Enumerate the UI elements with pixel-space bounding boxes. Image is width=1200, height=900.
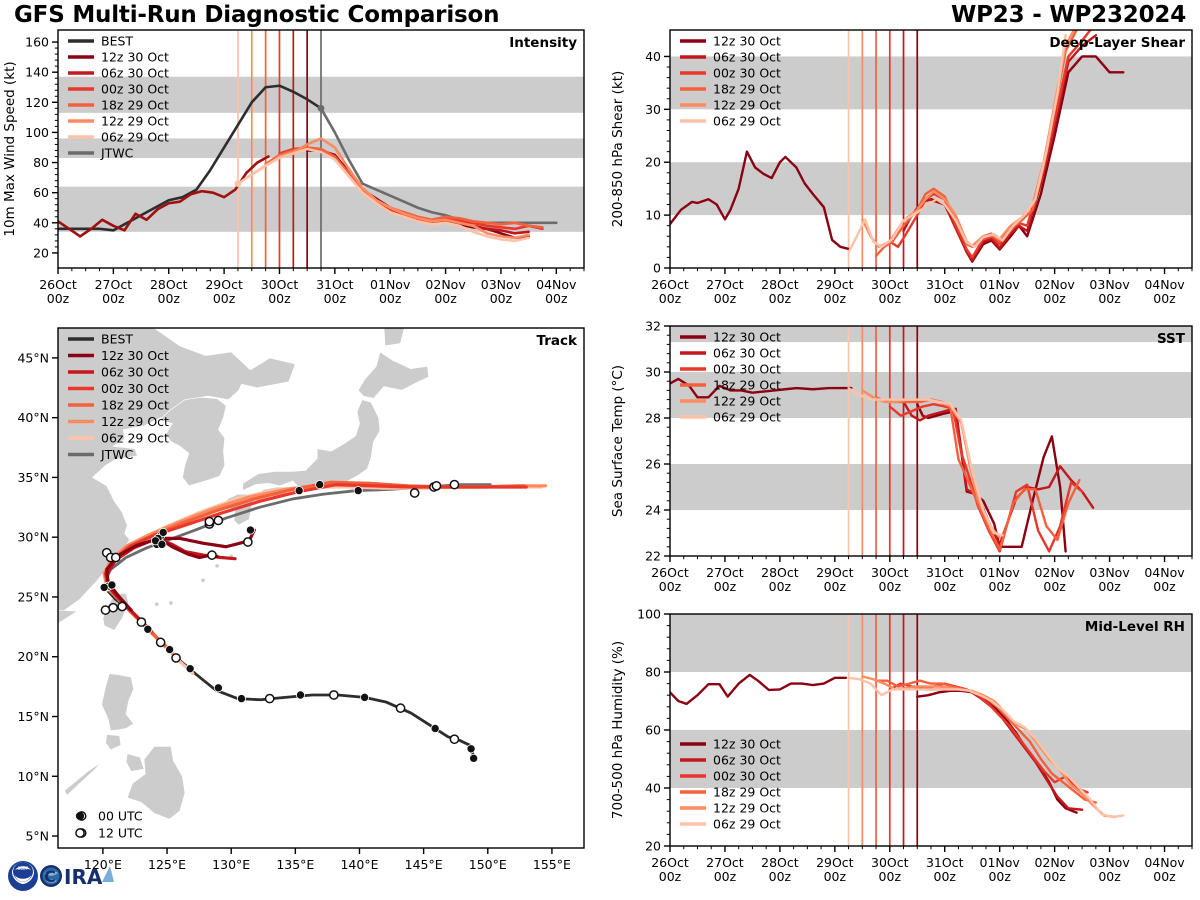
marker-12utc <box>330 691 338 699</box>
x-tick-sublabel: 00z <box>769 579 792 594</box>
panel-sst: 22242628303226Oct00z27Oct00z28Oct00z29Oc… <box>600 320 1200 608</box>
marker-00utc <box>354 486 362 494</box>
legend-label: 12z 29 Oct <box>101 414 169 429</box>
x-tick-label: 30Oct <box>871 855 909 870</box>
y-axis: 010203040 <box>645 49 670 276</box>
run-start-marker <box>235 180 242 187</box>
marker-00utc <box>76 812 84 820</box>
svg-text:140: 140 <box>25 65 49 80</box>
svg-text:1807: 1807 <box>18 866 29 871</box>
x-tick-sublabel: 00z <box>824 579 847 594</box>
x-tick-label: 28Oct <box>761 277 799 292</box>
marker-00utc <box>246 526 254 534</box>
x-tick-label: 30Oct <box>871 565 909 580</box>
svg-text:60: 60 <box>33 185 49 200</box>
x-tick-sublabel: 00z <box>379 291 402 306</box>
legend-label: 12z 29 Oct <box>713 394 781 409</box>
x-tick-sublabel: 00z <box>714 869 737 884</box>
x-tick-sublabel: 00z <box>988 291 1011 306</box>
x-tick-sublabel: 00z <box>213 291 236 306</box>
legend-label: 18z 29 Oct <box>713 785 781 800</box>
x-tick-sublabel: 00z <box>659 869 682 884</box>
marker-00utc <box>467 745 475 753</box>
x-tick-label: 29Oct <box>816 855 854 870</box>
legend-label: 06z 30 Oct <box>713 346 781 361</box>
x-tick-sublabel: 00z <box>934 291 957 306</box>
svg-text:20: 20 <box>645 155 661 170</box>
x-axis: 26Oct00z27Oct00z28Oct00z29Oct00z30Oct00z… <box>39 268 584 306</box>
panel-track: 120°E125°E130°E135°E140°E145°E150°E155°E… <box>0 324 592 884</box>
marker-12utc <box>137 618 145 626</box>
svg-text:30: 30 <box>645 365 661 380</box>
legend-label: 18z 29 Oct <box>713 82 781 97</box>
x-tick-label: 26Oct <box>651 565 689 580</box>
legend-label: 06z 29 Oct <box>101 431 169 446</box>
marker-00utc <box>470 754 478 762</box>
marker-00utc <box>214 684 222 692</box>
svg-text:80: 80 <box>645 665 661 680</box>
x-tick-sublabel: 00z <box>1098 869 1121 884</box>
island <box>201 578 205 582</box>
noaa-cira-logo: 1807 C IRA <box>6 856 136 898</box>
marker-00utc <box>166 645 174 653</box>
y-tick-label: 15°N <box>17 709 49 724</box>
x-tick-label: 31Oct <box>316 277 354 292</box>
x-tick-label: 30Oct <box>261 277 299 292</box>
legend-label: 00z 30 Oct <box>101 381 169 396</box>
jtwc-start-marker <box>318 105 325 112</box>
x-tick-label: 150°E <box>469 857 507 872</box>
svg-text:24: 24 <box>645 503 661 518</box>
x-axis: 26Oct00z27Oct00z28Oct00z29Oct00z30Oct00z… <box>651 268 1192 306</box>
x-tick-sublabel: 00z <box>1098 579 1121 594</box>
x-tick-label: 04Nov <box>536 277 577 292</box>
x-tick-sublabel: 00z <box>879 579 902 594</box>
svg-text:60: 60 <box>645 723 661 738</box>
legend-label: 12z 30 Oct <box>101 348 169 363</box>
x-axis: 120°E125°E130°E135°E140°E145°E150°E155°E <box>84 848 571 872</box>
x-tick-label: 27Oct <box>706 855 744 870</box>
noaa-seal-icon: 1807 <box>8 861 38 891</box>
svg-text:IRA: IRA <box>64 865 103 889</box>
marker-12utc <box>432 482 440 490</box>
y-tick-label: 10°N <box>17 769 49 784</box>
x-tick-label: 04Nov <box>1144 565 1185 580</box>
marker-00utc <box>295 486 303 494</box>
svg-text:80: 80 <box>33 155 49 170</box>
x-tick-label: 27Oct <box>95 277 133 292</box>
marker-12utc <box>109 604 117 612</box>
marker-00utc <box>237 694 245 702</box>
x-tick-label: 31Oct <box>926 855 964 870</box>
legend-label: JTWC <box>100 146 134 161</box>
legend-label: 12z 29 Oct <box>713 98 781 113</box>
x-tick-label: 28Oct <box>761 855 799 870</box>
x-tick-label: 26Oct <box>651 277 689 292</box>
legend-label: 06z 30 Oct <box>101 365 169 380</box>
x-tick-sublabel: 00z <box>879 291 902 306</box>
x-tick-label: 01Nov <box>370 277 411 292</box>
x-tick-sublabel: 00z <box>47 291 70 306</box>
panel-title: Intensity <box>509 35 577 51</box>
marker-00utc <box>144 625 152 633</box>
marker-12utc <box>214 516 222 524</box>
legend-label: BEST <box>101 332 133 347</box>
y-tick-label: 30°N <box>17 530 49 545</box>
x-tick-label: 27Oct <box>706 277 744 292</box>
x-tick-sublabel: 00z <box>769 869 792 884</box>
x-tick-sublabel: 00z <box>1153 291 1176 306</box>
marker-00utc <box>100 583 108 591</box>
marker-legend-label: 12 UTC <box>98 826 143 841</box>
x-tick-label: 31Oct <box>926 565 964 580</box>
x-tick-sublabel: 00z <box>1043 291 1066 306</box>
marker-00utc <box>158 540 166 548</box>
legend-label: 12z 30 Oct <box>713 330 781 345</box>
y-tick-label: 40°N <box>17 410 49 425</box>
svg-text:22: 22 <box>645 549 661 564</box>
x-tick-label: 26Oct <box>39 277 77 292</box>
marker-12utc <box>411 489 419 497</box>
legend-label: 00z 30 Oct <box>713 769 781 784</box>
legend-label: JTWC <box>100 447 134 462</box>
x-tick-sublabel: 00z <box>824 869 847 884</box>
x-tick-label: 145°E <box>405 857 443 872</box>
x-tick-sublabel: 00z <box>1153 869 1176 884</box>
svg-text:40: 40 <box>33 215 49 230</box>
legend-label: 06z 30 Oct <box>713 753 781 768</box>
x-tick-label: 02Nov <box>425 277 466 292</box>
x-tick-sublabel: 00z <box>1153 579 1176 594</box>
svg-text:100: 100 <box>25 125 49 140</box>
x-tick-sublabel: 00z <box>1043 579 1066 594</box>
x-tick-label: 26Oct <box>651 855 689 870</box>
x-tick-label: 01Nov <box>980 855 1021 870</box>
y-axis: 222426283032 <box>645 320 670 564</box>
x-tick-label: 130°E <box>212 857 250 872</box>
legend-label: 18z 29 Oct <box>101 98 169 113</box>
svg-text:28: 28 <box>645 411 661 426</box>
legend-label: 06z 29 Oct <box>713 114 781 129</box>
x-tick-sublabel: 00z <box>988 579 1011 594</box>
legend-label: 12z 29 Oct <box>101 114 169 129</box>
x-tick-label: 03Nov <box>481 277 522 292</box>
x-tick-sublabel: 00z <box>879 869 902 884</box>
marker-12utc <box>101 606 109 614</box>
x-tick-sublabel: 00z <box>934 579 957 594</box>
x-tick-label: 01Nov <box>980 565 1021 580</box>
svg-text:40: 40 <box>645 781 661 796</box>
panel-title: Mid-Level RH <box>1085 619 1185 635</box>
x-tick-label: 28Oct <box>761 565 799 580</box>
x-tick-label: 03Nov <box>1089 855 1130 870</box>
y-tick-label: 5°N <box>25 829 49 844</box>
marker-legend-label: 00 UTC <box>98 809 143 824</box>
x-tick-label: 03Nov <box>1089 277 1130 292</box>
x-tick-sublabel: 00z <box>490 291 513 306</box>
x-tick-label: 03Nov <box>1089 565 1130 580</box>
legend-label: 18z 29 Oct <box>101 398 169 413</box>
svg-text:10: 10 <box>645 208 661 223</box>
marker-12utc <box>112 553 120 561</box>
y-tick-label: 35°N <box>17 470 49 485</box>
y-axis: 5°N10°N15°N20°N25°N30°N35°N40°N45°N <box>17 350 58 843</box>
x-tick-sublabel: 00z <box>268 291 291 306</box>
x-tick-sublabel: 00z <box>714 291 737 306</box>
marker-00utc <box>431 724 439 732</box>
x-tick-label: 30Oct <box>871 277 909 292</box>
legend-label: 00z 30 Oct <box>713 362 781 377</box>
legend-label: 12z 30 Oct <box>101 50 169 65</box>
x-tick-sublabel: 00z <box>659 579 682 594</box>
x-tick-sublabel: 00z <box>434 291 457 306</box>
marker-12utc <box>157 638 165 646</box>
marker-00utc <box>361 693 369 701</box>
x-tick-label: 27Oct <box>706 565 744 580</box>
marker-12utc <box>208 551 216 559</box>
marker-12utc <box>450 480 458 488</box>
island <box>155 602 159 606</box>
legend-label: 12z 30 Oct <box>713 737 781 752</box>
panel-mid-level-rh: 2040608010026Oct00z27Oct00z28Oct00z29Oct… <box>600 608 1200 898</box>
legend-label: 12z 29 Oct <box>713 801 781 816</box>
legend-label: 06z 29 Oct <box>713 410 781 425</box>
cira-wordmark: C IRA <box>40 865 114 889</box>
legend-label: 00z 30 Oct <box>101 82 169 97</box>
x-tick-sublabel: 00z <box>102 291 125 306</box>
legend-label: 18z 29 Oct <box>713 378 781 393</box>
marker-00utc <box>186 665 194 673</box>
legend-label: 06z 30 Oct <box>713 50 781 65</box>
y-axis-label: 10m Max Wind Speed (kt) <box>2 61 18 236</box>
x-tick-sublabel: 00z <box>545 291 568 306</box>
legend-label: BEST <box>101 34 133 49</box>
x-tick-label: 29Oct <box>205 277 243 292</box>
y-axis: 20406080100 <box>637 608 670 854</box>
y-axis: 20406080100120140160 <box>25 35 58 261</box>
marker-12utc <box>450 735 458 743</box>
svg-text:32: 32 <box>645 320 661 334</box>
marker-12utc <box>76 829 84 837</box>
x-tick-label: 04Nov <box>1144 855 1185 870</box>
y-axis-label: Sea Surface Temp (°C) <box>610 365 626 517</box>
panel-deep-layer-shear: 01020304026Oct00z27Oct00z28Oct00z29Oct00… <box>600 24 1200 320</box>
figure-root: GFS Multi-Run Diagnostic Comparison WP23… <box>0 0 1200 900</box>
x-tick-sublabel: 00z <box>988 869 1011 884</box>
x-tick-label: 140°E <box>340 857 378 872</box>
marker-00utc <box>108 581 116 589</box>
svg-text:0: 0 <box>653 261 661 276</box>
svg-text:30: 30 <box>645 102 661 117</box>
svg-text:120: 120 <box>25 95 49 110</box>
x-tick-label: 02Nov <box>1034 277 1075 292</box>
marker-12utc <box>118 602 126 610</box>
x-tick-sublabel: 00z <box>714 579 737 594</box>
x-axis: 26Oct00z27Oct00z28Oct00z29Oct00z30Oct00z… <box>651 556 1192 594</box>
x-tick-sublabel: 00z <box>824 291 847 306</box>
x-tick-sublabel: 00z <box>934 869 957 884</box>
x-tick-label: 155°E <box>533 857 571 872</box>
svg-text:C: C <box>44 867 56 886</box>
x-tick-label: 04Nov <box>1144 277 1185 292</box>
x-tick-label: 31Oct <box>926 277 964 292</box>
marker-00utc <box>316 480 324 488</box>
y-tick-label: 45°N <box>17 350 49 365</box>
panel-title: Deep-Layer Shear <box>1049 35 1185 51</box>
x-tick-sublabel: 00z <box>158 291 181 306</box>
island <box>169 601 173 605</box>
legend-label: 06z 29 Oct <box>713 817 781 832</box>
svg-text:20: 20 <box>33 245 49 260</box>
x-tick-sublabel: 00z <box>1043 869 1066 884</box>
marker-12utc <box>172 654 180 662</box>
legend-label: 06z 30 Oct <box>101 66 169 81</box>
x-tick-sublabel: 00z <box>659 291 682 306</box>
legend-label: 06z 29 Oct <box>101 130 169 145</box>
x-tick-label: 02Nov <box>1034 855 1075 870</box>
legend-label: 12z 30 Oct <box>713 34 781 49</box>
x-tick-label: 125°E <box>148 857 186 872</box>
svg-text:160: 160 <box>25 35 49 50</box>
marker-12utc <box>244 538 252 546</box>
marker-12utc <box>266 694 274 702</box>
x-tick-label: 135°E <box>276 857 314 872</box>
marker-12utc <box>205 518 213 526</box>
y-tick-label: 20°N <box>17 649 49 664</box>
x-tick-label: 28Oct <box>150 277 188 292</box>
y-axis-label: 700-500 hPa Humidity (%) <box>610 641 626 819</box>
marker-00utc <box>296 691 304 699</box>
x-tick-label: 01Nov <box>980 277 1021 292</box>
x-axis: 26Oct00z27Oct00z28Oct00z29Oct00z30Oct00z… <box>651 846 1192 884</box>
marker-12utc <box>396 704 404 712</box>
svg-text:20: 20 <box>645 839 661 854</box>
svg-text:40: 40 <box>645 49 661 64</box>
x-tick-sublabel: 00z <box>769 291 792 306</box>
island <box>215 564 219 568</box>
panel-title: Track <box>537 333 578 349</box>
x-tick-label: 02Nov <box>1034 565 1075 580</box>
legend-label: 00z 30 Oct <box>713 66 781 81</box>
svg-text:26: 26 <box>645 457 661 472</box>
panel-title: SST <box>1157 331 1186 347</box>
svg-text:100: 100 <box>637 608 661 622</box>
x-tick-label: 29Oct <box>816 277 854 292</box>
y-tick-label: 25°N <box>17 589 49 604</box>
panel-intensity: 2040608010012014016026Oct00z27Oct00z28Oc… <box>0 24 592 320</box>
y-axis-label: 200-850 hPa Shear (kt) <box>610 71 626 228</box>
x-tick-sublabel: 00z <box>324 291 347 306</box>
x-tick-sublabel: 00z <box>1098 291 1121 306</box>
x-tick-label: 29Oct <box>816 565 854 580</box>
